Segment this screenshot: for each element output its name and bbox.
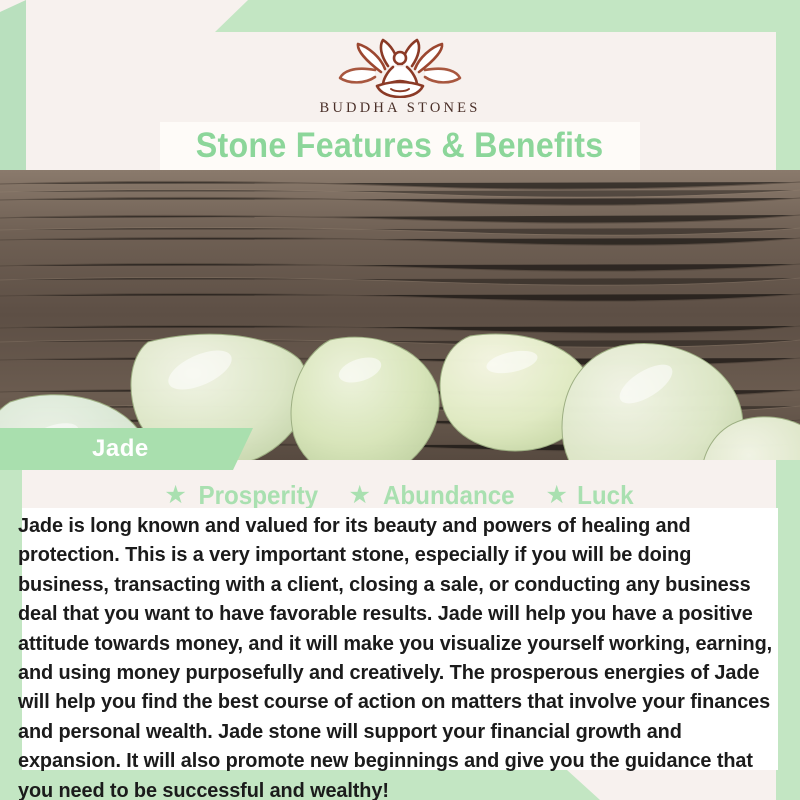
jade-stones-image (0, 170, 800, 460)
star-icon: ★ (164, 483, 186, 508)
brand-header: BUDDHA STONES (0, 32, 800, 120)
title-banner: Stone Features & Benefits (160, 122, 640, 170)
star-icon: ★ (545, 483, 567, 508)
stone-name-label: Jade (92, 435, 149, 463)
stone-photo (0, 170, 800, 460)
decor-band-top (215, 0, 800, 32)
star-icon: ★ (348, 483, 370, 508)
keyword-item-prosperity: ★ Prosperity (164, 480, 322, 511)
keyword-label: Prosperity (198, 480, 318, 511)
keyword-row: ★ Prosperity ★ Abundance ★ Luck (0, 478, 800, 512)
keyword-item-abundance: ★ Abundance (348, 480, 519, 511)
infographic-card: BUDDHA STONES Stone Features & Benefits (0, 0, 800, 800)
keyword-label: Abundance (383, 480, 515, 511)
brand-name: BUDDHA STONES (320, 100, 481, 117)
keyword-item-luck: ★ Luck (545, 480, 635, 511)
description-text: Jade is long known and valued for its be… (18, 512, 774, 800)
page-title: Stone Features & Benefits (196, 126, 604, 166)
stone-name-bar: Jade (0, 428, 253, 470)
keyword-label: Luck (577, 480, 633, 511)
brand-logo: BUDDHA STONES (320, 36, 481, 117)
lotus-meditation-icon (325, 36, 475, 98)
